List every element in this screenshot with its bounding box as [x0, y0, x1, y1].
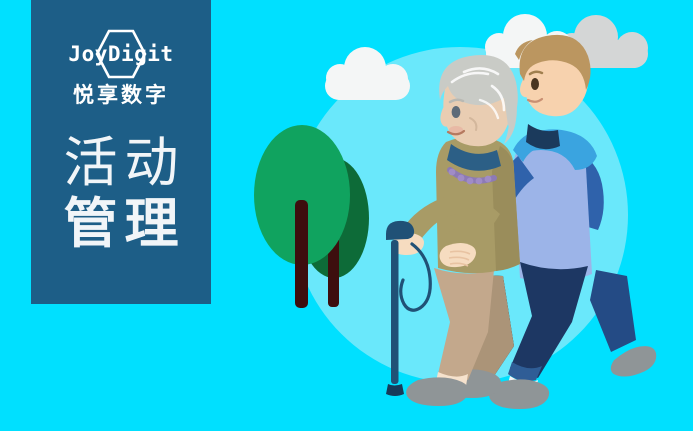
page-title-line-1: 活动 — [57, 133, 186, 193]
brand-name: JoyDigit — [68, 44, 173, 65]
activity-management-banner: JoyDigit 悦享数字 活动 管理 — [0, 0, 693, 431]
info-panel: JoyDigit 悦享数字 活动 管理 — [31, 0, 211, 304]
page-title-line-2: 管理 — [57, 194, 186, 254]
brand-name-cn: 悦享数字 — [73, 84, 169, 107]
brand-logo: JoyDigit — [46, 26, 196, 82]
page-title: 活动 管理 — [57, 133, 186, 254]
